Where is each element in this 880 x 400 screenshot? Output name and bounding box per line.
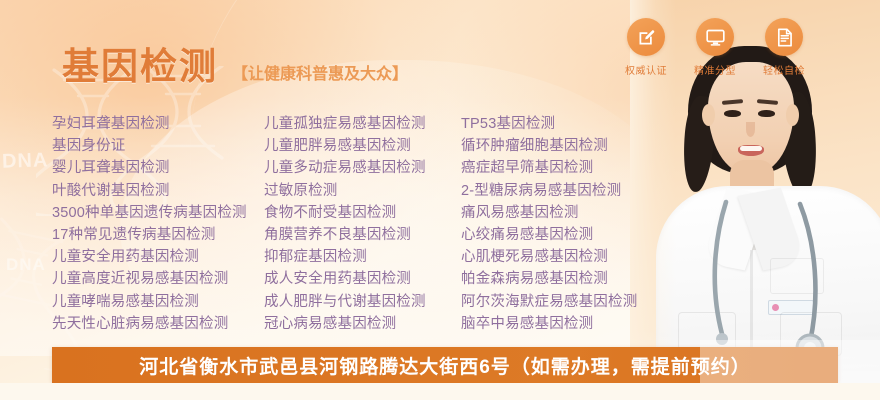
list-item[interactable]: 儿童孤独症易感基因检测	[264, 113, 461, 135]
list-item[interactable]: 心肌梗死易感基因检测	[461, 246, 701, 268]
list-item[interactable]: 帕金森病易感基因检测	[461, 268, 701, 290]
list-item[interactable]: 阿尔茨海默症易感基因检测	[461, 291, 701, 313]
doctor-face	[708, 62, 794, 174]
page-subtitle: 【让健康科普惠及大众】	[232, 60, 408, 84]
list-item[interactable]: 成人安全用药基因检测	[264, 268, 461, 290]
list-item[interactable]: 角膜营养不良基因检测	[264, 224, 461, 246]
list-item[interactable]: 循环肿瘤细胞基因检测	[461, 135, 701, 157]
list-item[interactable]: 儿童高度近视易感基因检测	[52, 268, 264, 290]
list-item[interactable]: 先天性心脏病易感基因检测	[52, 313, 264, 335]
list-item[interactable]: 基因身份证	[52, 135, 264, 157]
list-item[interactable]: 儿童肥胖易感基因检测	[264, 135, 461, 157]
page-title: 基因检测	[62, 48, 218, 85]
document-check-icon	[765, 18, 803, 56]
test-item-columns: 孕妇耳聋基因检测 基因身份证 婴儿耳聋基因检测 叶酸代谢基因检测 3500种单基…	[52, 113, 702, 335]
list-item[interactable]: 癌症超早筛基因检测	[461, 157, 701, 179]
list-item[interactable]: 叶酸代谢基因检测	[52, 180, 264, 202]
test-column-2: 儿童孤独症易感基因检测 儿童肥胖易感基因检测 儿童多动症易感基因检测 过敏原检测…	[264, 113, 461, 335]
watermark-text: DNA	[6, 255, 46, 275]
badge-label: 权威认证	[625, 62, 667, 77]
gene-testing-poster: DNA DNA DNA DNA	[0, 0, 880, 400]
list-item[interactable]: 17种常见遗传病基因检测	[52, 224, 264, 246]
badge-label: 精准分型	[694, 62, 736, 77]
feature-badge-group: 权威认证 精准分型 轻松自检	[620, 18, 810, 77]
badge-easy-self-check[interactable]: 轻松自检	[758, 18, 810, 77]
list-item[interactable]: 成人肥胖与代谢基因检测	[264, 291, 461, 313]
watermark-text: DNA	[2, 149, 49, 174]
badge-label: 轻松自检	[763, 62, 805, 77]
list-item[interactable]: 脑卒中易感基因检测	[461, 313, 701, 335]
list-item[interactable]: 3500种单基因遗传病基因检测	[52, 202, 264, 224]
list-item[interactable]: 儿童安全用药基因检测	[52, 246, 264, 268]
watermark-text: DNA	[829, 52, 865, 69]
address-bar: 河北省衡水市武邑县河钢路腾达大街西6号（如需办理，需提前预约）	[52, 347, 838, 383]
list-item[interactable]: 儿童多动症易感基因检测	[264, 157, 461, 179]
badge-precise-typing[interactable]: 精准分型	[689, 18, 741, 77]
address-text: 河北省衡水市武邑县河钢路腾达大街西6号（如需办理，需提前预约）	[139, 352, 751, 379]
test-column-1: 孕妇耳聋基因检测 基因身份证 婴儿耳聋基因检测 叶酸代谢基因检测 3500种单基…	[52, 113, 264, 335]
list-item[interactable]: 心绞痛易感基因检测	[461, 224, 701, 246]
list-item[interactable]: 抑郁症基因检测	[264, 246, 461, 268]
list-item[interactable]: 孕妇耳聋基因检测	[52, 113, 264, 135]
badge-authority-certification[interactable]: 权威认证	[620, 18, 672, 77]
list-item[interactable]: 过敏原检测	[264, 180, 461, 202]
list-item[interactable]: TP53基因检测	[461, 113, 701, 135]
edit-certificate-icon	[627, 18, 665, 56]
bottom-strip	[0, 383, 880, 400]
list-item[interactable]: 食物不耐受基因检测	[264, 202, 461, 224]
list-item[interactable]: 冠心病易感基因检测	[264, 313, 461, 335]
test-column-3: TP53基因检测 循环肿瘤细胞基因检测 癌症超早筛基因检测 2-型糖尿病易感基因…	[461, 113, 701, 335]
poster-heading: 基因检测 【让健康科普惠及大众】	[62, 48, 408, 85]
doctor-name-badge	[768, 300, 814, 315]
list-item[interactable]: 2-型糖尿病易感基因检测	[461, 180, 701, 202]
monitor-icon	[696, 18, 734, 56]
list-item[interactable]: 婴儿耳聋基因检测	[52, 157, 264, 179]
list-item[interactable]: 儿童哮喘易感基因检测	[52, 291, 264, 313]
list-item[interactable]: 痛风易感基因检测	[461, 202, 701, 224]
